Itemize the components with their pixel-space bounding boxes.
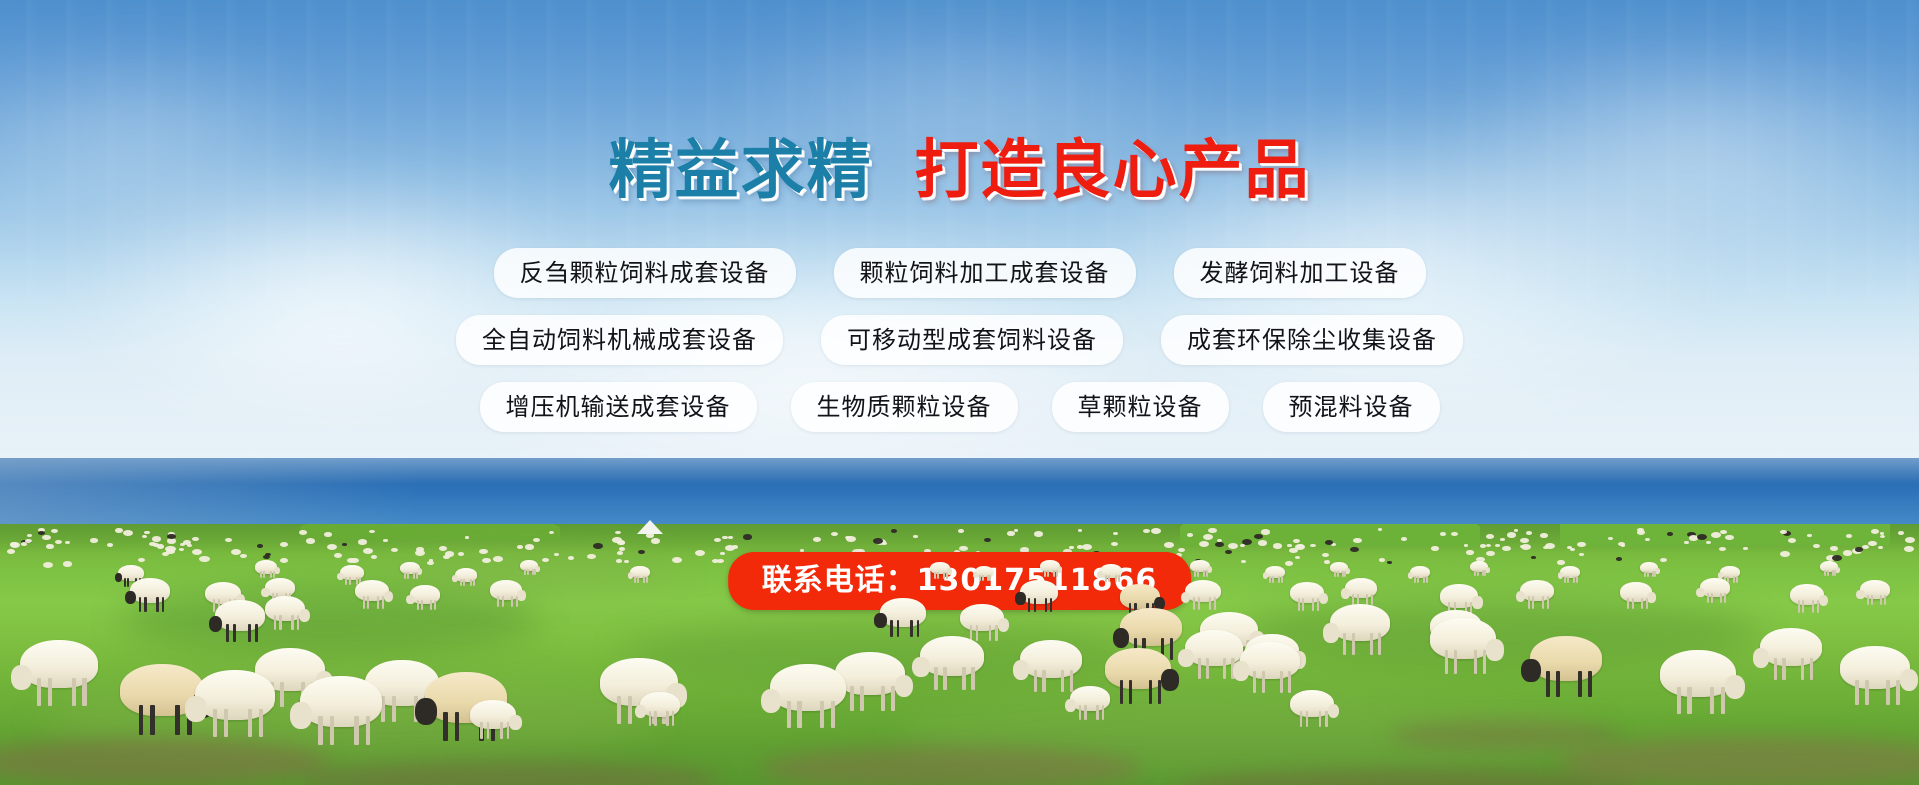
distant-sheep <box>10 542 20 548</box>
sheep <box>1440 584 1478 608</box>
sheep-leg <box>1193 597 1195 610</box>
sheep-leg <box>1300 711 1302 727</box>
distant-sheep <box>1014 529 1018 532</box>
sheep-head <box>517 590 526 600</box>
distant-sheep <box>1711 532 1721 538</box>
distant-sheep <box>1178 548 1185 552</box>
distant-sheep <box>619 547 625 551</box>
sheep-leg <box>382 596 384 608</box>
dirt-patch <box>1390 720 1620 750</box>
sheep-leg <box>430 600 432 611</box>
pill-button[interactable]: 增压机输送成套设备 <box>480 382 757 432</box>
sheep-leg <box>1223 658 1226 679</box>
sheep-head <box>1097 571 1103 578</box>
pill-button[interactable]: 草颗粒设备 <box>1052 382 1229 432</box>
sheep-leg <box>1721 687 1725 714</box>
pill-button[interactable]: 预混料设备 <box>1263 382 1440 432</box>
sheep-leg <box>1370 633 1373 655</box>
distant-sheep <box>1078 529 1082 532</box>
sheep-head <box>299 609 310 622</box>
distant-sheep <box>1637 530 1645 535</box>
distant-sheep <box>1486 544 1491 547</box>
sheep-leg <box>1334 571 1336 578</box>
distant-sheep <box>199 556 210 562</box>
distant-sheep <box>1401 537 1407 541</box>
distant-sheep <box>1225 550 1232 554</box>
sheep-leg <box>897 620 900 637</box>
distant-sheep <box>1514 529 1518 532</box>
sheep-leg <box>1886 680 1890 705</box>
sheep-leg <box>982 575 984 582</box>
sheep-head <box>1819 595 1828 606</box>
sheep-leg <box>1045 598 1047 612</box>
distant-sheep <box>1486 534 1494 539</box>
sheep <box>1040 560 1060 572</box>
dirt-patch <box>1560 736 1919 785</box>
sheep-leg <box>1588 671 1592 697</box>
sheep <box>1105 648 1171 689</box>
distant-sheep <box>728 536 733 539</box>
hero-banner: 精益求精打造良心产品 反刍颗粒饲料成套设备 颗粒饲料加工成套设备 发酵饲料加工设… <box>0 0 1919 785</box>
sheep-leg <box>1817 600 1819 612</box>
sheep-leg <box>1477 570 1479 577</box>
distant-sheep <box>107 543 113 547</box>
sheep-leg <box>646 576 648 583</box>
sheep-leg <box>1855 680 1859 705</box>
sheep-head <box>185 696 207 722</box>
distant-sheep <box>1832 555 1842 561</box>
distant-sheep <box>27 534 32 537</box>
distant-sheep <box>1880 532 1884 535</box>
distant-sheep <box>1273 543 1282 549</box>
sheep-leg <box>1556 671 1560 697</box>
distant-sheep <box>1378 528 1382 531</box>
sheep-leg <box>1824 570 1826 577</box>
sheep-leg <box>1214 597 1216 610</box>
pill-row-1: 反刍颗粒饲料成套设备 颗粒饲料加工成套设备 发酵饲料加工设备 <box>0 248 1919 298</box>
sheep-leg <box>787 701 791 728</box>
sheep-leg <box>1197 570 1199 577</box>
sheep-leg <box>1198 597 1200 610</box>
sheep-leg <box>144 597 146 611</box>
distant-sheep <box>1557 560 1565 565</box>
distant-sheep <box>231 549 241 555</box>
sheep <box>355 580 389 601</box>
distant-sheep <box>306 538 315 544</box>
distant-sheep <box>1440 532 1446 536</box>
sheep-leg <box>255 624 258 642</box>
sheep-leg <box>502 596 504 608</box>
sheep <box>880 598 926 627</box>
sheep-head <box>384 591 393 602</box>
sheep-head <box>1655 568 1660 574</box>
sheep-head <box>1835 567 1840 573</box>
sheep-head <box>115 573 122 581</box>
sheep-head <box>1065 699 1076 712</box>
pill-row-3: 增压机输送成套设备 生物质颗粒设备 草颗粒设备 预混料设备 <box>0 382 1919 432</box>
distant-sheep <box>568 556 574 560</box>
sheep-leg <box>139 597 141 611</box>
distant-sheep <box>240 554 247 558</box>
distant-sheep <box>465 536 469 539</box>
sheep-leg <box>1546 671 1550 697</box>
sheep-leg <box>349 577 351 586</box>
sheep-leg <box>487 722 490 739</box>
sheep-leg <box>291 615 293 629</box>
sheep-leg <box>354 716 359 746</box>
distant-sheep <box>813 537 821 542</box>
distant-sheep <box>445 551 454 557</box>
sheep-leg <box>274 615 276 629</box>
distant-sheep <box>46 544 54 549</box>
sheep-leg <box>500 722 503 739</box>
sheep <box>1470 561 1488 572</box>
sheep-leg <box>139 705 144 735</box>
headline: 精益求精打造良心产品 <box>0 139 1919 203</box>
distant-sheep <box>593 543 603 549</box>
sheep-head <box>1341 588 1350 598</box>
sheep-leg <box>1573 576 1575 583</box>
distant-sheep <box>695 550 705 556</box>
sheep-leg <box>1262 671 1265 693</box>
distant-sheep <box>439 546 447 551</box>
sheep-leg <box>48 678 52 706</box>
distant-sheep <box>324 532 332 537</box>
sheep <box>770 664 846 711</box>
sheep-leg <box>1298 598 1300 610</box>
distant-sheep <box>7 549 15 554</box>
distant-sheep <box>624 560 629 563</box>
sheep-leg <box>226 624 229 642</box>
sheep <box>920 636 984 676</box>
sheep <box>400 562 420 574</box>
sheep-leg <box>345 577 347 586</box>
distant-sheep <box>1830 546 1838 551</box>
sheep-leg <box>279 615 281 629</box>
pill-button[interactable]: 可移动型成套饲料设备 <box>821 315 1123 365</box>
sheep-leg <box>124 578 126 587</box>
sheep-leg <box>937 572 939 579</box>
distant-sheep <box>225 538 232 542</box>
distant-sheep <box>1813 544 1820 548</box>
sheep <box>1330 604 1390 641</box>
pill-button[interactable]: 发酵饲料加工设备 <box>1174 248 1426 298</box>
sheep-leg <box>1483 650 1487 674</box>
sheep-head <box>1015 592 1025 604</box>
distant-sheep <box>616 559 622 563</box>
dirt-patch <box>760 746 1140 785</box>
distant-sheep <box>891 529 897 533</box>
sheep <box>1240 642 1300 679</box>
sheep-leg <box>524 569 526 576</box>
sheep <box>1560 566 1580 578</box>
distant-sheep <box>672 557 682 563</box>
sheep-leg <box>628 696 632 724</box>
distant-sheep <box>55 540 62 544</box>
distant-sheep <box>1034 531 1043 537</box>
sheep-leg <box>1198 658 1201 679</box>
sheep-leg <box>1884 595 1886 606</box>
sheep-head <box>1408 572 1413 578</box>
sheep-leg <box>1798 600 1800 612</box>
sheep-leg <box>330 716 335 746</box>
sheep-leg <box>1084 705 1086 719</box>
sheep-head <box>1900 669 1919 692</box>
sheep-leg <box>1710 687 1714 714</box>
sheep <box>255 560 277 574</box>
distant-sheep <box>720 552 725 555</box>
sheep-head <box>1161 669 1179 690</box>
sheep-leg <box>1102 705 1104 719</box>
sheep-leg <box>1733 576 1735 583</box>
distant-sheep <box>1069 546 1074 549</box>
pill-button[interactable]: 全自动饲料机械成套设备 <box>456 315 783 365</box>
sheep-leg <box>1641 598 1643 610</box>
sheep-head <box>1113 628 1130 648</box>
sheep-leg <box>213 709 217 738</box>
sheep-head <box>912 657 929 678</box>
sheep-leg <box>1149 680 1153 704</box>
sheep-leg <box>1720 593 1722 604</box>
sheep-head <box>535 566 540 572</box>
pill-button[interactable]: 颗粒饲料加工成套设备 <box>834 248 1136 298</box>
sheep-leg <box>654 711 656 725</box>
distant-sheep <box>1531 556 1536 559</box>
distant-sheep <box>1660 558 1667 562</box>
sheep-leg <box>890 620 893 637</box>
sheep-head <box>973 572 978 578</box>
sheep-head <box>1181 592 1191 604</box>
sheep-leg <box>1378 633 1381 655</box>
sheep-head <box>1013 660 1030 680</box>
sheep-leg <box>1880 595 1882 606</box>
pill-row-2: 全自动饲料机械成套设备 可移动型成套饲料设备 成套环保除尘收集设备 <box>0 315 1919 365</box>
distant-sheep <box>1007 531 1015 536</box>
sheep-leg <box>1445 650 1449 674</box>
distant-sheep <box>1258 540 1267 546</box>
distant-sheep <box>1261 529 1270 535</box>
distant-sheep <box>1208 528 1217 533</box>
sheep <box>1020 580 1058 604</box>
sheep-leg <box>516 596 518 608</box>
distant-sheep <box>1353 538 1362 543</box>
sheep-leg <box>860 686 864 711</box>
sheep <box>20 640 98 688</box>
sheep <box>1120 584 1160 609</box>
distant-sheep <box>831 532 838 536</box>
sheep-leg <box>1281 576 1283 583</box>
distant-sheep <box>1287 544 1292 547</box>
distant-sheep <box>115 528 123 533</box>
sheep <box>1330 562 1348 573</box>
sheep-leg <box>421 600 423 611</box>
sheep <box>1530 636 1602 681</box>
distant-sheep <box>959 546 968 551</box>
sheep-leg <box>1871 595 1873 606</box>
sheep-leg <box>797 701 801 728</box>
sheep-leg <box>1337 571 1339 578</box>
hill <box>300 524 560 540</box>
distant-sheep <box>1451 532 1458 536</box>
sheep-head <box>1558 572 1563 578</box>
sheep <box>1290 690 1334 717</box>
sheep-head <box>1725 675 1746 700</box>
sheep-leg <box>1343 633 1346 655</box>
distant-sheep <box>280 558 288 563</box>
sheep-leg <box>1272 576 1274 583</box>
distant-sheep <box>1387 561 1392 564</box>
pill-button[interactable]: 成套环保除尘收集设备 <box>1161 315 1463 365</box>
sheep-leg <box>473 579 475 587</box>
sheep-head <box>1319 593 1328 604</box>
distant-sheep <box>743 534 752 540</box>
sheep <box>215 600 265 631</box>
sheep-leg <box>1528 596 1530 608</box>
sheep-head <box>509 715 521 730</box>
sheep-leg <box>934 667 938 690</box>
sheep-leg <box>1454 650 1458 674</box>
sheep-leg <box>979 575 981 582</box>
sheep <box>340 565 364 580</box>
pill-button[interactable]: 反刍颗粒饲料成套设备 <box>494 248 796 298</box>
sheep <box>265 578 295 597</box>
sheep-leg <box>1206 570 1208 577</box>
distant-sheep <box>157 544 164 549</box>
sheep-leg <box>1578 671 1582 697</box>
sheep <box>1410 566 1430 578</box>
sheep <box>1020 640 1082 678</box>
distant-sheep <box>1846 534 1852 538</box>
sheep-leg <box>417 600 419 611</box>
sheep-leg <box>497 596 499 608</box>
sheep-head <box>1647 592 1656 602</box>
pill-button[interactable]: 生物质颗粒设备 <box>791 382 1018 432</box>
sheep-head <box>635 705 646 718</box>
distant-sheep <box>913 535 918 538</box>
sheep <box>930 562 950 574</box>
distant-sheep <box>1645 538 1650 541</box>
tent <box>637 520 663 534</box>
distant-sheep <box>187 544 192 547</box>
dirt-patch <box>0 738 330 785</box>
sheep-leg <box>1053 570 1055 577</box>
sheep-leg <box>366 716 371 746</box>
sheep <box>1185 580 1221 602</box>
distant-sheep <box>714 538 721 542</box>
grass-patch <box>120 584 540 654</box>
distant-sheep <box>358 539 367 545</box>
distant-sheep <box>1540 533 1548 538</box>
sheep-leg <box>1209 597 1211 610</box>
sheep <box>1700 578 1730 597</box>
sheep-leg <box>881 686 885 711</box>
distant-sheep <box>1228 543 1238 549</box>
sheep <box>1790 584 1824 605</box>
sheep-leg <box>1865 680 1869 705</box>
distant-sheep <box>1526 531 1532 535</box>
distant-sheep <box>587 554 596 559</box>
sheep-leg <box>1306 711 1308 727</box>
sheep-leg <box>672 711 674 725</box>
sheep <box>265 596 305 621</box>
distant-sheep <box>517 545 523 549</box>
sheep <box>1430 618 1496 659</box>
sheep <box>640 692 680 717</box>
distant-sheep <box>350 558 359 563</box>
sheep-head <box>415 698 437 724</box>
distant-sheep <box>1684 541 1689 544</box>
sheep <box>1120 608 1182 646</box>
distant-sheep <box>1807 534 1812 537</box>
distant-sheep <box>617 540 625 545</box>
sheep-leg <box>1042 670 1045 692</box>
distant-sheep <box>1868 541 1877 546</box>
sheep <box>1620 582 1652 602</box>
sheep-leg <box>1567 576 1569 583</box>
distant-sheep <box>1521 544 1531 550</box>
sheep-leg <box>150 705 155 735</box>
sheep-leg <box>1105 575 1107 583</box>
sheep-leg <box>1280 671 1283 693</box>
sheep-leg <box>1302 598 1304 610</box>
sheep-leg <box>318 716 323 746</box>
sheep <box>1720 566 1740 578</box>
sheep-leg <box>1644 571 1646 578</box>
sheep-leg <box>1034 598 1036 612</box>
distant-sheep <box>1706 541 1711 544</box>
sheep-leg <box>1801 658 1804 680</box>
sheep-head <box>337 573 344 581</box>
sheep-leg <box>363 596 365 608</box>
distant-sheep <box>1862 545 1869 549</box>
sheep-head <box>1753 648 1770 668</box>
sheep-leg <box>455 712 460 742</box>
sheep <box>130 578 170 603</box>
headline-red: 打造良心产品 <box>915 134 1311 208</box>
sheep-leg <box>1115 575 1117 583</box>
sheep-body <box>880 598 926 627</box>
sheep <box>1820 561 1838 572</box>
distant-sheep <box>1904 546 1914 552</box>
sheep-leg <box>1203 570 1205 577</box>
distant-sheep <box>1880 535 1885 538</box>
sheep-leg <box>1736 576 1738 583</box>
sheep-leg <box>1576 576 1578 583</box>
distant-sheep <box>51 529 58 533</box>
sheep-leg <box>1206 658 1209 679</box>
sheep-leg <box>507 722 510 739</box>
sheep-head <box>1486 639 1504 660</box>
sheep-leg <box>162 597 164 611</box>
sheep-leg <box>1253 671 1256 693</box>
sheep-leg <box>511 596 513 608</box>
sheep-leg <box>72 678 76 706</box>
distant-sheep <box>1616 557 1622 561</box>
sheep-head <box>125 591 136 604</box>
distant-sheep <box>651 538 660 544</box>
sheep-leg <box>1120 680 1124 704</box>
distant-sheep <box>1500 538 1505 541</box>
sheep-head <box>1345 568 1350 574</box>
sheep-head <box>761 689 782 714</box>
distant-sheep <box>42 535 51 540</box>
sheep-leg <box>820 701 824 728</box>
sheep <box>1265 566 1285 578</box>
sheep-leg <box>1158 680 1162 704</box>
sheep <box>1190 560 1210 572</box>
sheep <box>960 604 1004 631</box>
sheep-leg <box>1325 711 1327 727</box>
